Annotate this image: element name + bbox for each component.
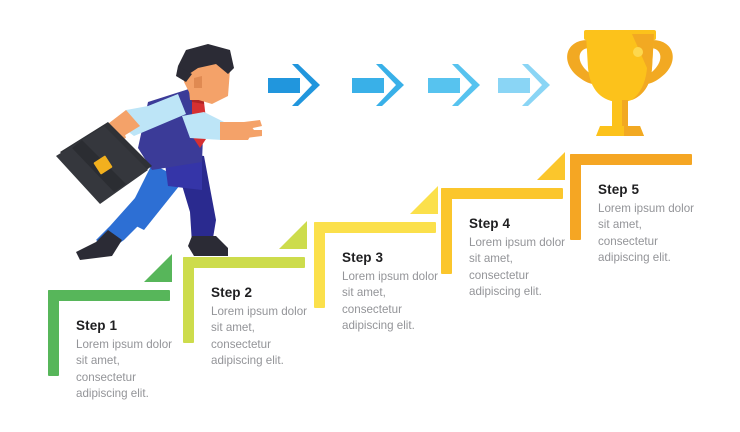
step-description-3: Lorem ipsum dolor sit amet, consectetur … bbox=[342, 269, 438, 335]
step-title-1: Step 1 bbox=[76, 318, 172, 333]
step-leg-4 bbox=[441, 188, 452, 274]
running-businessman bbox=[52, 44, 264, 281]
step-text-block-1: Step 1 Lorem ipsum dolor sit amet, conse… bbox=[76, 318, 172, 403]
step-title-3: Step 3 bbox=[342, 250, 438, 265]
progress-arrow-2 bbox=[352, 62, 406, 113]
step-title-5: Step 5 bbox=[598, 182, 694, 197]
progress-arrow-1 bbox=[268, 62, 322, 113]
gold-trophy bbox=[558, 22, 682, 143]
step-text-block-2: Step 2 Lorem ipsum dolor sit amet, conse… bbox=[211, 285, 307, 370]
step-leg-3 bbox=[314, 222, 325, 308]
step-accent-triangle-1 bbox=[144, 254, 172, 282]
step-accent-triangle-3 bbox=[410, 186, 438, 214]
step-leg-1 bbox=[48, 290, 59, 376]
step-bar-3 bbox=[314, 222, 436, 233]
step-bar-5 bbox=[570, 154, 692, 165]
step-description-1: Lorem ipsum dolor sit amet, consectetur … bbox=[76, 337, 172, 403]
step-text-block-4: Step 4 Lorem ipsum dolor sit amet, conse… bbox=[469, 216, 565, 301]
step-description-5: Lorem ipsum dolor sit amet, consectetur … bbox=[598, 201, 694, 267]
step-title-4: Step 4 bbox=[469, 216, 565, 231]
step-text-block-5: Step 5 Lorem ipsum dolor sit amet, conse… bbox=[598, 182, 694, 267]
step-description-2: Lorem ipsum dolor sit amet, consectetur … bbox=[211, 304, 307, 370]
step-text-block-3: Step 3 Lorem ipsum dolor sit amet, conse… bbox=[342, 250, 438, 335]
step-title-2: Step 2 bbox=[211, 285, 307, 300]
step-bar-1 bbox=[48, 290, 170, 301]
step-bar-4 bbox=[441, 188, 563, 199]
step-leg-5 bbox=[570, 154, 581, 240]
step-bar-2 bbox=[183, 257, 305, 268]
infographic-canvas: Step 1 Lorem ipsum dolor sit amet, conse… bbox=[0, 0, 740, 432]
step-description-4: Lorem ipsum dolor sit amet, consectetur … bbox=[469, 235, 565, 301]
step-accent-triangle-2 bbox=[279, 221, 307, 249]
progress-arrow-4 bbox=[498, 62, 552, 113]
step-leg-2 bbox=[183, 257, 194, 343]
step-accent-triangle-4 bbox=[537, 152, 565, 180]
progress-arrow-3 bbox=[428, 62, 482, 113]
